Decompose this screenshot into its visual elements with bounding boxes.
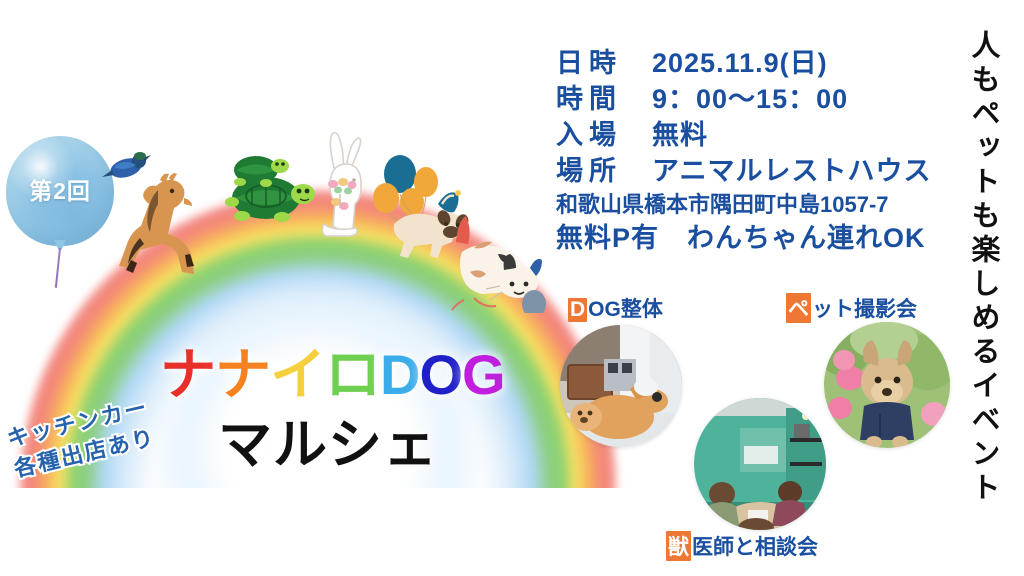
label-pet-photo-session: ペット撮影会 — [786, 293, 917, 323]
balloon-string — [55, 248, 61, 288]
info-value-date: 2025.11.9(日) — [652, 46, 828, 82]
label-chip-vet-consultation: 獣 — [666, 531, 691, 561]
info-label-admission: 入場 — [556, 118, 652, 154]
info-row-admission: 入場 無料 — [556, 118, 946, 154]
info-value-admission: 無料 — [652, 118, 708, 154]
rabbit-illustration — [310, 128, 380, 240]
label-chip-pet-photo-session: ペ — [786, 293, 811, 323]
label-rest-vet-consultation: 医師と相談会 — [692, 536, 818, 559]
event-info-block: 日時 2025.11.9(日) 時間 9：00〜15：00 入場 無料 場所 ア… — [556, 46, 946, 257]
info-label-time: 時間 — [556, 82, 652, 118]
title-char: O — [419, 342, 462, 407]
info-label-venue: 場所 — [556, 154, 652, 190]
calico-cat-illustration — [440, 208, 548, 313]
horse-and-bird-illustration — [96, 134, 226, 274]
horse-icon — [119, 173, 194, 274]
title-char: ロ — [325, 330, 380, 411]
info-label-date: 日時 — [556, 46, 652, 82]
page-subtitle: マルシェ — [218, 400, 578, 479]
info-row-date: 日時 2025.11.9(日) — [556, 46, 946, 82]
bird-icon — [102, 152, 151, 181]
event-poster: 第2回 — [0, 0, 1024, 576]
title-char: ナ — [215, 330, 270, 411]
info-row-time: 時間 9：00〜15：00 — [556, 82, 946, 118]
label-dog-seitai: DOG整体 — [568, 293, 663, 323]
turtles-illustration — [222, 146, 318, 236]
page-title: ナナイロDOG — [160, 330, 520, 411]
title-char: イ — [270, 330, 325, 411]
cat-icon — [452, 216, 546, 313]
info-value-venue: アニマルレストハウス — [652, 154, 931, 190]
label-chip-dog-seitai: D — [568, 298, 587, 322]
label-rest-pet-photo-session: ット撮影会 — [812, 298, 917, 321]
info-value-time: 9：00〜15：00 — [652, 82, 848, 118]
title-char: G — [462, 342, 505, 407]
vertical-tagline: 人もペットも楽しめるイベント — [962, 30, 1004, 550]
photo-vet-consultation — [694, 398, 826, 530]
label-rest-dog-seitai: OG整体 — [588, 298, 663, 321]
parking-pet-note: 無料P有 わんちゃん連れOK — [556, 220, 946, 256]
venue-address: 和歌山県橋本市隅田町中島1057-7 — [556, 190, 946, 221]
rabbit-icon — [322, 133, 361, 236]
photo-dog-seitai — [560, 325, 682, 447]
title-char: D — [380, 342, 419, 407]
kitchen-car-note: キッチンカー 各種出店あり — [4, 377, 223, 485]
label-vet-consultation: 獣医師と相談会 — [666, 531, 818, 561]
info-row-venue: 場所 アニマルレストハウス — [556, 154, 946, 190]
photo-pet-photo-session — [824, 322, 950, 448]
